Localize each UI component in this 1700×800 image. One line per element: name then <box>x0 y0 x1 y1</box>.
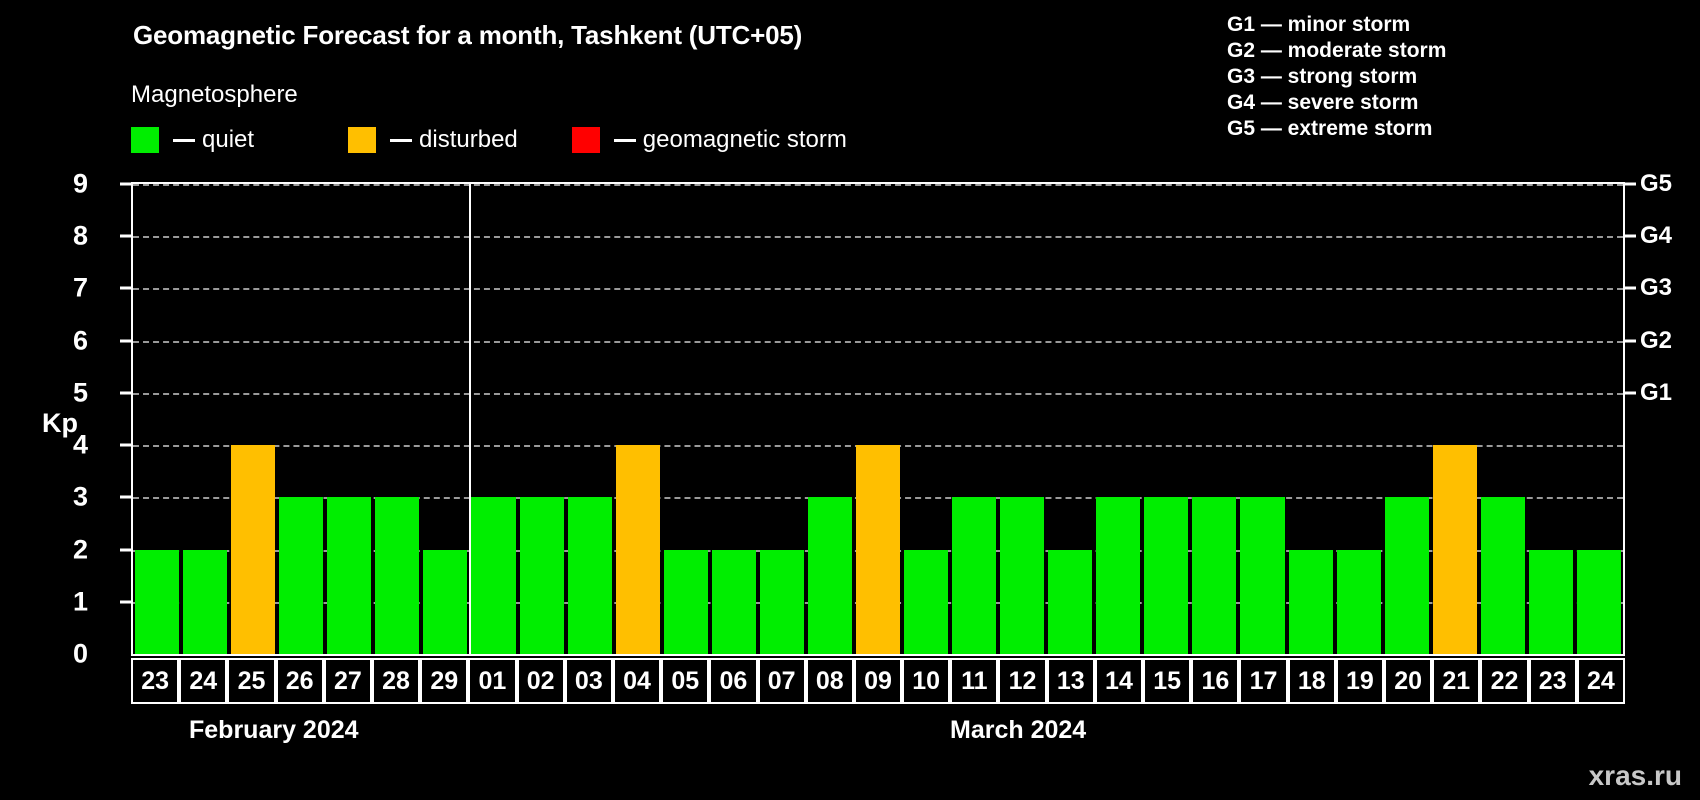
date-box-19[interactable]: 13 <box>1047 658 1095 704</box>
date-box-17[interactable]: 11 <box>950 658 998 704</box>
date-box-20[interactable]: 14 <box>1095 658 1143 704</box>
legend-item-quiet: quiet <box>131 126 254 154</box>
legend-label-disturbed: disturbed <box>419 126 518 154</box>
date-box-23[interactable]: 17 <box>1239 658 1287 704</box>
bar-22[interactable] <box>1481 497 1525 654</box>
date-box-12[interactable]: 06 <box>709 658 757 704</box>
legend-dash-icon <box>614 139 636 142</box>
y-tick-label-1: 1 <box>48 586 88 617</box>
storm-swatch <box>572 127 600 153</box>
g-tick-mark-g5 <box>1625 183 1636 186</box>
bar-24[interactable] <box>1577 550 1621 654</box>
date-box-18[interactable]: 12 <box>998 658 1046 704</box>
bar-06[interactable] <box>712 550 756 654</box>
legend-dash-icon <box>173 139 195 142</box>
bar-13[interactable] <box>1048 550 1092 654</box>
chart-page: Geomagnetic Forecast for a month, Tashke… <box>0 0 1700 800</box>
date-box-15[interactable]: 09 <box>854 658 902 704</box>
y-tick-label-7: 7 <box>48 273 88 304</box>
g-tick-mark-g1 <box>1625 391 1636 394</box>
bar-25[interactable] <box>231 445 275 654</box>
gscale-line-g2: G2 — moderate storm <box>1227 38 1446 64</box>
bar-29[interactable] <box>423 550 467 654</box>
legend-dash-icon <box>390 139 412 142</box>
bar-16[interactable] <box>1192 497 1236 654</box>
bar-23[interactable] <box>135 550 179 654</box>
quiet-swatch <box>131 127 159 153</box>
legend-item-disturbed: disturbed <box>348 126 518 154</box>
date-box-26[interactable]: 20 <box>1384 658 1432 704</box>
bar-05[interactable] <box>664 550 708 654</box>
date-box-0[interactable]: 23 <box>131 658 179 704</box>
legend-label-storm: geomagnetic storm <box>643 126 847 154</box>
y-tick-label-9: 9 <box>48 169 88 200</box>
bar-01[interactable] <box>471 497 515 654</box>
date-box-14[interactable]: 08 <box>806 658 854 704</box>
bar-23[interactable] <box>1529 550 1573 654</box>
bar-11[interactable] <box>952 497 996 654</box>
gscale-line-g5: G5 — extreme storm <box>1227 116 1446 142</box>
date-box-21[interactable]: 15 <box>1143 658 1191 704</box>
g-tick-label-g1: G1 <box>1640 379 1672 407</box>
date-box-28[interactable]: 22 <box>1480 658 1528 704</box>
y-tick-mark-2 <box>120 548 131 551</box>
bar-21[interactable] <box>1433 445 1477 654</box>
g-tick-mark-g4 <box>1625 235 1636 238</box>
disturbed-swatch <box>348 127 376 153</box>
date-box-8[interactable]: 02 <box>517 658 565 704</box>
bar-14[interactable] <box>1096 497 1140 654</box>
bar-12[interactable] <box>1000 497 1044 654</box>
y-tick-label-8: 8 <box>48 221 88 252</box>
magnetosphere-legend: quiet disturbed geomagnetic storm <box>131 126 847 154</box>
gscale-line-g3: G3 — strong storm <box>1227 64 1446 90</box>
g-tick-label-g3: G3 <box>1640 274 1672 302</box>
month-label-february: February 2024 <box>189 716 359 745</box>
bar-17[interactable] <box>1240 497 1284 654</box>
bar-02[interactable] <box>520 497 564 654</box>
date-box-25[interactable]: 19 <box>1336 658 1384 704</box>
date-box-6[interactable]: 29 <box>420 658 468 704</box>
y-tick-mark-4 <box>120 444 131 447</box>
y-tick-label-3: 3 <box>48 482 88 513</box>
y-tick-label-4: 4 <box>48 430 88 461</box>
bar-28[interactable] <box>375 497 419 654</box>
gscale-line-g1: G1 — minor storm <box>1227 12 1446 38</box>
y-tick-mark-7 <box>120 287 131 290</box>
bar-03[interactable] <box>568 497 612 654</box>
month-label-march: March 2024 <box>950 716 1086 745</box>
bar-24[interactable] <box>183 550 227 654</box>
gscale-line-g4: G4 — severe storm <box>1227 90 1446 116</box>
bar-27[interactable] <box>327 497 371 654</box>
date-box-4[interactable]: 27 <box>324 658 372 704</box>
y-tick-mark-1 <box>120 600 131 603</box>
date-box-3[interactable]: 26 <box>276 658 324 704</box>
bar-19[interactable] <box>1337 550 1381 654</box>
date-box-9[interactable]: 03 <box>565 658 613 704</box>
bar-26[interactable] <box>279 497 323 654</box>
date-box-24[interactable]: 18 <box>1288 658 1336 704</box>
date-box-16[interactable]: 10 <box>902 658 950 704</box>
y-tick-label-2: 2 <box>48 534 88 565</box>
bar-10[interactable] <box>904 550 948 654</box>
y-tick-mark-9 <box>120 183 131 186</box>
gscale-legend: G1 — minor storm G2 — moderate storm G3 … <box>1227 12 1446 142</box>
date-box-11[interactable]: 05 <box>661 658 709 704</box>
date-box-2[interactable]: 25 <box>227 658 275 704</box>
g-tick-label-g4: G4 <box>1640 222 1672 250</box>
watermark: xras.ru <box>1589 760 1682 792</box>
date-box-5[interactable]: 28 <box>372 658 420 704</box>
g-tick-mark-g2 <box>1625 339 1636 342</box>
bar-09[interactable] <box>856 445 900 654</box>
bar-04[interactable] <box>616 445 660 654</box>
date-box-22[interactable]: 16 <box>1191 658 1239 704</box>
y-tick-mark-6 <box>120 339 131 342</box>
date-box-29[interactable]: 23 <box>1529 658 1577 704</box>
date-box-13[interactable]: 07 <box>758 658 806 704</box>
bar-15[interactable] <box>1144 497 1188 654</box>
legend-heading: Magnetosphere <box>131 81 298 109</box>
y-tick-label-6: 6 <box>48 325 88 356</box>
date-box-27[interactable]: 21 <box>1432 658 1480 704</box>
g-tick-label-g5: G5 <box>1640 170 1672 198</box>
page-title: Geomagnetic Forecast for a month, Tashke… <box>133 20 802 51</box>
bar-20[interactable] <box>1385 497 1429 654</box>
legend-item-storm: geomagnetic storm <box>572 126 847 154</box>
y-tick-mark-3 <box>120 496 131 499</box>
g-tick-label-g2: G2 <box>1640 327 1672 355</box>
y-tick-mark-8 <box>120 235 131 238</box>
g-tick-mark-g3 <box>1625 287 1636 290</box>
y-tick-label-0: 0 <box>48 639 88 670</box>
legend-label-quiet: quiet <box>202 126 254 154</box>
y-tick-mark-5 <box>120 391 131 394</box>
bar-07[interactable] <box>760 550 804 654</box>
bars-container <box>133 184 1623 654</box>
date-box-10[interactable]: 04 <box>613 658 661 704</box>
bar-18[interactable] <box>1289 550 1333 654</box>
date-box-30[interactable]: 24 <box>1577 658 1625 704</box>
y-tick-label-5: 5 <box>48 377 88 408</box>
bar-08[interactable] <box>808 497 852 654</box>
date-box-7[interactable]: 01 <box>468 658 516 704</box>
date-box-1[interactable]: 24 <box>179 658 227 704</box>
x-axis-date-boxes: 2324252627282901020304050607080910111213… <box>131 658 1625 704</box>
